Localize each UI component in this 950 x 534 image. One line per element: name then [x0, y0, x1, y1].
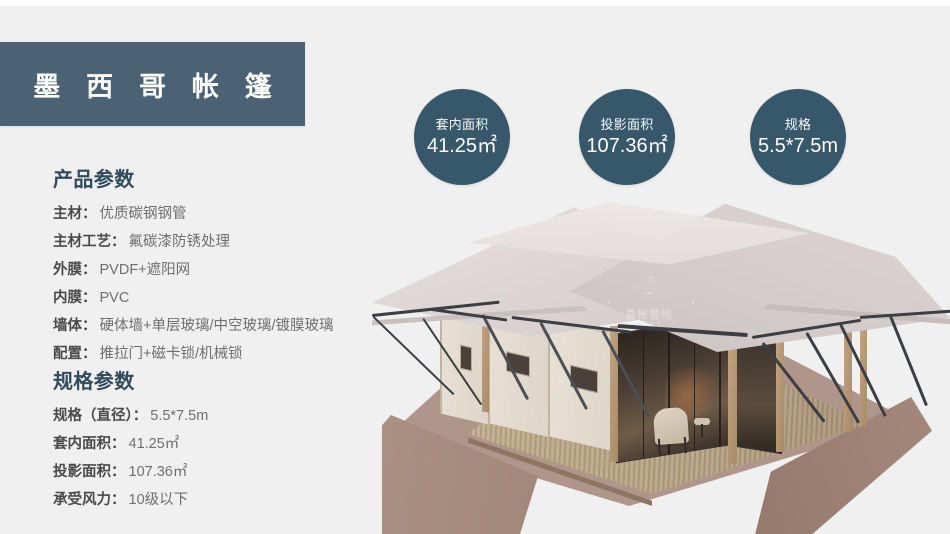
stat-badge-interior-area: 套内面积 41.25㎡	[414, 89, 510, 185]
side-table-leg	[701, 424, 703, 438]
wooden-post	[776, 334, 784, 452]
spec-row: 承受风力： 10级以下	[53, 490, 380, 511]
wooden-post	[482, 315, 489, 412]
wooden-post	[728, 336, 737, 464]
glass-panel-right	[730, 332, 782, 454]
stat-badge-dimensions: 规格 5.5*7.5m	[750, 89, 846, 185]
badge-label: 套内面积	[435, 117, 488, 133]
spec-label: 外膜：	[53, 260, 97, 281]
spec-label: 规格（直径）：	[53, 406, 147, 427]
spec-value: 优质碳钢钢管	[100, 204, 187, 225]
spec-label: 主材：	[53, 204, 97, 225]
top-strip	[0, 0, 950, 6]
stat-badge-projected-area: 投影面积 107.36㎡	[579, 89, 675, 185]
spec-label: 配置：	[53, 344, 97, 365]
spec-value: 10级以下	[129, 490, 189, 511]
spec-value: 氟碳漆防锈处理	[129, 232, 231, 253]
spec-value: 5.5*7.5m	[150, 406, 208, 427]
spec-row: 主材： 优质碳钢钢管	[53, 204, 380, 225]
spec-label: 内膜：	[53, 288, 97, 309]
size-parameters-section: 规格参数 规格（直径）： 5.5*7.5m 套内面积： 41.25㎡ 投影面积：…	[0, 365, 380, 518]
window	[460, 345, 472, 372]
spec-value: 硬体墙+单层玻璃/中空玻璃/镀膜玻璃	[100, 316, 334, 337]
spec-value: 41.25㎡	[129, 434, 180, 455]
badge-value: 41.25㎡	[427, 134, 497, 158]
spec-row: 墙体： 硬体墙+单层玻璃/中空玻璃/镀膜玻璃	[53, 316, 380, 337]
tent-render-image: 喜帐营地 TENT	[372, 196, 950, 534]
spec-row: 套内面积： 41.25㎡	[53, 434, 380, 455]
spec-value: 107.36㎡	[129, 462, 188, 483]
glass-mullion	[643, 330, 645, 458]
spec-value: 推拉门+磁卡锁/机械锁	[100, 344, 243, 365]
page-title: 墨 西 哥 帐 篷	[24, 65, 281, 104]
spec-label: 投影面积：	[53, 462, 126, 483]
product-parameters-section: 产品参数 主材： 优质碳钢钢管 主材工艺： 氟碳漆防锈处理 外膜： PVDF+遮…	[0, 163, 380, 372]
spec-label: 承受风力：	[53, 490, 126, 511]
spec-label: 墙体：	[53, 316, 97, 337]
spec-label: 套内面积：	[53, 434, 126, 455]
spec-label: 主材工艺：	[53, 232, 126, 253]
spec-row: 外膜： PVDF+遮阳网	[53, 260, 380, 281]
lounge-chair	[653, 407, 689, 445]
spec-row: 投影面积： 107.36㎡	[53, 462, 380, 483]
spec-value: PVDF+遮阳网	[100, 260, 191, 281]
badge-value: 5.5*7.5m	[758, 134, 838, 158]
badge-label: 投影面积	[600, 117, 653, 133]
guy-cable	[890, 316, 928, 406]
spec-value: PVC	[100, 288, 130, 309]
spec-row: 内膜： PVC	[53, 288, 380, 309]
spec-row: 配置： 推拉门+磁卡锁/机械锁	[53, 344, 380, 365]
badge-value: 107.36㎡	[586, 134, 667, 158]
spec-sheet-page: 墨 西 哥 帐 篷 产品参数 主材： 优质碳钢钢管 主材工艺： 氟碳漆防锈处理 …	[0, 0, 950, 534]
section-heading-size: 规格参数	[53, 365, 380, 394]
title-banner: 墨 西 哥 帐 篷	[0, 42, 305, 126]
spec-row: 规格（直径）： 5.5*7.5m	[53, 406, 380, 427]
badge-label: 规格	[785, 117, 812, 133]
section-heading-product: 产品参数	[53, 163, 380, 192]
spec-row: 主材工艺： 氟碳漆防锈处理	[53, 232, 380, 253]
